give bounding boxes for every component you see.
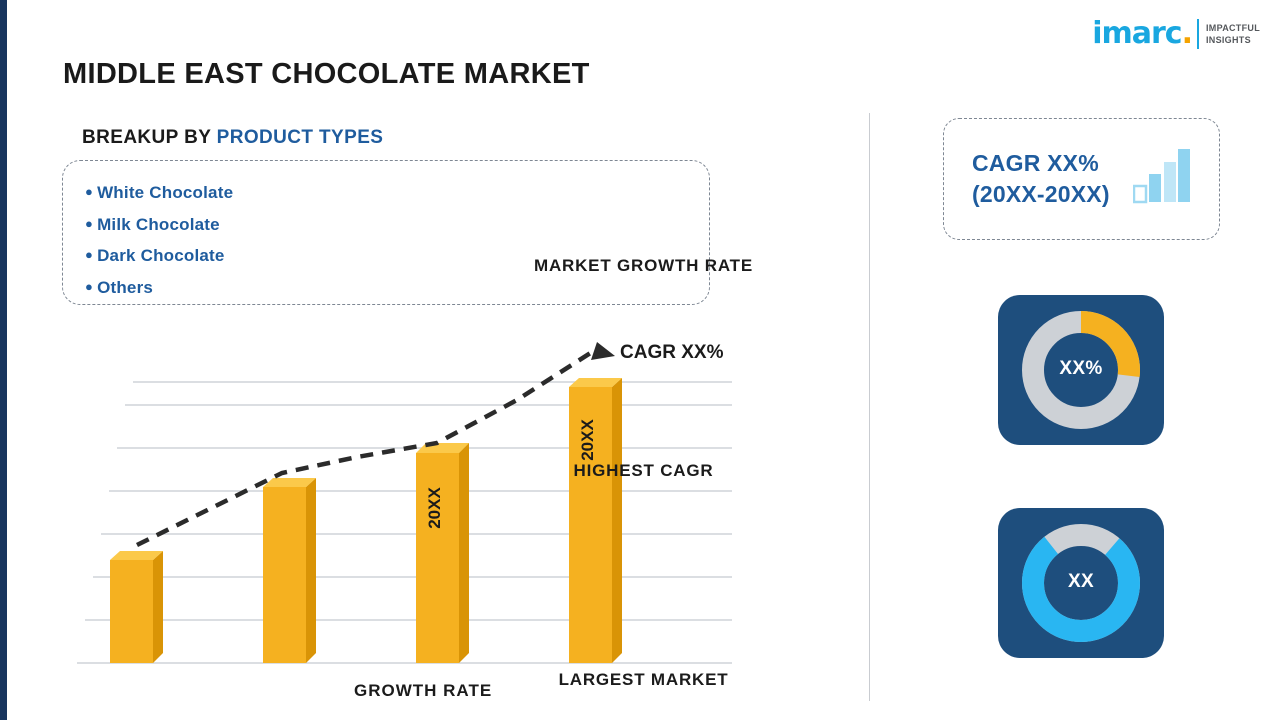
- logo-divider: [1197, 19, 1199, 49]
- market-growth-rate-caption: MARKET GROWTH RATE: [7, 256, 1280, 276]
- bar-label-4: 20XX: [578, 419, 597, 461]
- largest-market-card: XX: [998, 508, 1164, 658]
- page-title: MIDDLE EAST CHOCOLATE MARKET: [63, 58, 590, 91]
- highest-cagr-caption: HIGHEST CAGR: [7, 461, 1280, 481]
- cagr-line2: (20XX-20XX): [972, 179, 1110, 210]
- bar-1: [110, 551, 163, 663]
- breakup-highlight: PRODUCT TYPES: [217, 127, 384, 148]
- highest-cagr-value: XX%: [998, 358, 1164, 380]
- bar-chart-icon: [1133, 146, 1191, 209]
- breakup-heading: BREAKUP BY PRODUCT TYPES: [82, 127, 383, 149]
- imarc-logo: imarc. IMPACTFUL INSIGHTS: [1092, 16, 1260, 52]
- highest-cagr-card: XX%: [998, 295, 1164, 445]
- slide-canvas: imarc. IMPACTFUL INSIGHTS MIDDLE EAST CH…: [0, 0, 1280, 720]
- cagr-text: CAGR XX% (20XX-20XX): [972, 148, 1110, 210]
- list-item-label: Others: [97, 278, 153, 297]
- logo-tagline: IMPACTFUL INSIGHTS: [1206, 22, 1260, 46]
- largest-market-value: XX: [998, 571, 1164, 593]
- chart-svg: 20XX 20XX: [67, 330, 767, 710]
- chart-cagr-label: CAGR XX%: [620, 342, 723, 364]
- growth-rate-chart: 20XX 20XX: [67, 330, 767, 710]
- list-item: ●White Chocolate: [85, 177, 709, 209]
- trend-line: [137, 342, 615, 545]
- cagr-line1: CAGR XX%: [972, 148, 1110, 179]
- list-item: ●Others: [85, 272, 709, 304]
- list-item-label: Milk Chocolate: [97, 215, 220, 234]
- logo-wordmark: imarc.: [1092, 19, 1192, 49]
- bar-2: [263, 478, 316, 663]
- market-growth-rate-box: CAGR XX% (20XX-20XX): [943, 118, 1220, 240]
- chart-gridlines: [77, 382, 732, 663]
- logo-tagline-line2: INSIGHTS: [1206, 34, 1260, 46]
- breakup-prefix: BREAKUP BY: [82, 127, 217, 148]
- logo-text: imarc: [1092, 16, 1181, 51]
- bar-label-3: 20XX: [425, 487, 444, 529]
- list-item: ●Milk Chocolate: [85, 209, 709, 241]
- bullet-icon: ●: [85, 279, 93, 294]
- bullet-icon: ●: [85, 184, 93, 199]
- logo-dot-icon: .: [1182, 16, 1192, 51]
- panel-divider: [869, 113, 870, 701]
- largest-market-caption: LARGEST MARKET: [7, 670, 1280, 690]
- logo-tagline-line1: IMPACTFUL: [1206, 22, 1260, 34]
- bullet-icon: ●: [85, 216, 93, 231]
- list-item-label: White Chocolate: [97, 183, 233, 202]
- product-types-box: ●White Chocolate ●Milk Chocolate ●Dark C…: [62, 160, 710, 305]
